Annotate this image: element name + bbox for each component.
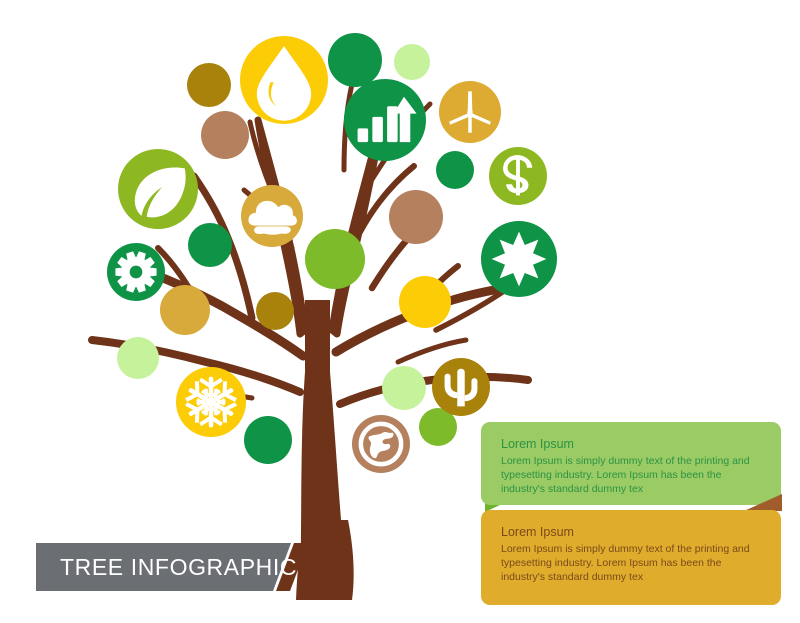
callout-gold-tail (744, 494, 782, 511)
tree-infographic-canvas: TREE INFOGRAPHIC Lorem Ipsum Lorem Ipsum… (0, 0, 800, 623)
growth-chart-icon-disc (344, 79, 426, 161)
leaf-dot (187, 63, 231, 107)
callout-card-gold[interactable]: Lorem Ipsum Lorem Ipsum is simply dummy … (481, 510, 781, 605)
leaf-dot (328, 33, 382, 87)
gear-icon-glyph (115, 251, 156, 292)
callout-card-green[interactable]: Lorem Ipsum Lorem Ipsum is simply dummy … (481, 422, 781, 505)
leaf-dot (399, 276, 451, 328)
leaf-dot (382, 366, 426, 410)
leaf-dot (117, 337, 159, 379)
snowflake-icon[interactable] (176, 367, 246, 437)
callout-gold-title: Lorem Ipsum (501, 524, 761, 541)
callout-green-title: Lorem Ipsum (501, 436, 761, 453)
leaf-dot (389, 190, 443, 244)
leaf-dot (256, 292, 294, 330)
leaf-dot (436, 151, 474, 189)
cloud-icon[interactable] (241, 185, 303, 247)
page-title: TREE INFOGRAPHIC (60, 543, 297, 591)
sun-icon-glyph (492, 232, 547, 287)
leaf-dot (160, 285, 210, 335)
leaf-dot (201, 111, 249, 159)
dollar-sign-icon[interactable] (489, 147, 547, 205)
leaf-dot (305, 229, 365, 289)
leaf-dot (244, 416, 292, 464)
cactus-icon[interactable] (432, 358, 490, 416)
wind-turbine-icon[interactable] (439, 81, 501, 143)
globe-icon[interactable] (352, 415, 410, 473)
gear-icon[interactable] (107, 243, 165, 301)
title-banner: TREE INFOGRAPHIC (36, 543, 308, 591)
callout-green-body: Lorem Ipsum is simply dummy text of the … (501, 454, 761, 497)
growth-chart-icon[interactable] (344, 79, 426, 161)
callout-gold-body: Lorem Ipsum is simply dummy text of the … (501, 542, 761, 585)
water-drop-icon[interactable] (240, 36, 328, 124)
sun-icon[interactable] (481, 221, 557, 297)
leaf-icon[interactable] (118, 149, 198, 229)
leaf-dot (188, 223, 232, 267)
leaf-dot (394, 44, 430, 80)
